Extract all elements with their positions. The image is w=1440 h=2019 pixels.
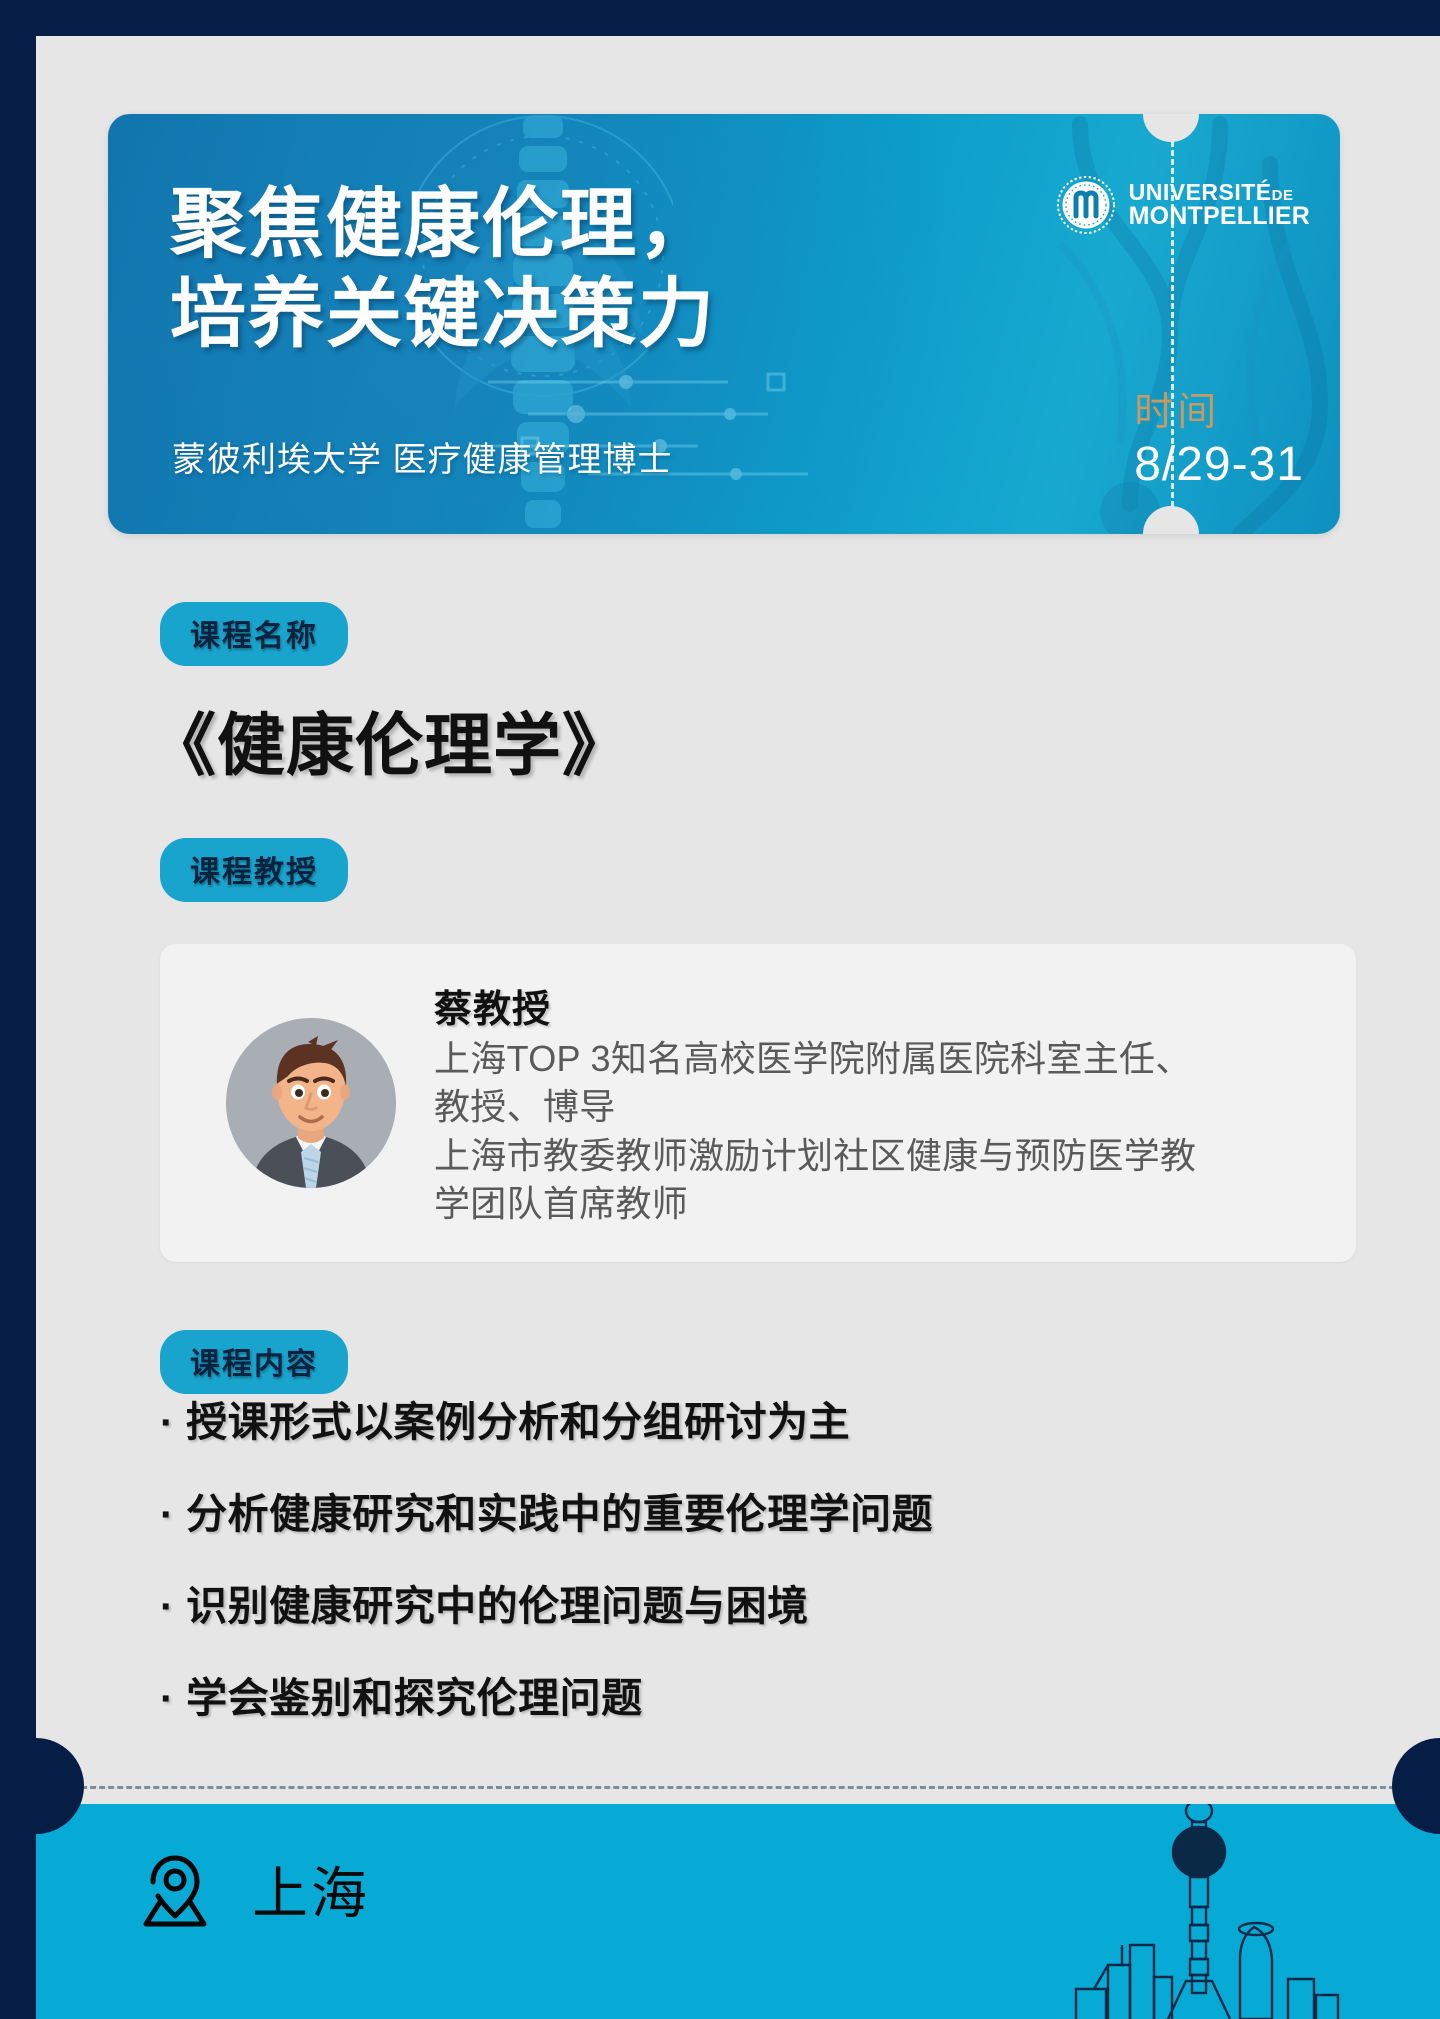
avatar-illustration (226, 1018, 396, 1188)
location-name: 上海 (252, 1849, 370, 1930)
professor-info: 蔡教授 上海TOP 3知名高校医学院附属医院科室主任、 教授、博导 上海市教委教… (434, 978, 1356, 1228)
date-value: 8/29-31 (1134, 437, 1304, 492)
course-content-list: · 授课形式以案例分析和分组研讨为主 · 分析健康研究和实践中的重要伦理学问题 … (160, 1388, 1340, 1756)
list-item-label: 识别健康研究中的伦理问题与困境 (186, 1572, 809, 1632)
shanghai-skyline-icon (1016, 1804, 1376, 2019)
bullet-icon: · (160, 1678, 174, 1719)
section-label-professor: 课程教授 (160, 838, 348, 902)
section-label-course-content: 课程内容 (160, 1330, 348, 1394)
university-logo: UNIVERSITÉDE MONTPELLIER (1057, 176, 1310, 234)
date-label: 时间 (1134, 392, 1304, 435)
location-pin-icon (132, 1846, 218, 1932)
professor-bio: 上海TOP 3知名高校医学院附属医院科室主任、 教授、博导 上海市教委教师激励计… (434, 1035, 1356, 1228)
bullet-icon: · (160, 1494, 174, 1535)
course-title: 《健康伦理学》 (148, 690, 631, 789)
list-item: · 授课形式以案例分析和分组研讨为主 (160, 1388, 1340, 1448)
banner-subtitle: 蒙彼利埃大学 医疗健康管理博士 (172, 432, 672, 481)
list-item-label: 学会鉴别和探究伦理问题 (186, 1664, 643, 1724)
list-item: · 学会鉴别和探究伦理问题 (160, 1664, 1340, 1724)
university-logo-text: UNIVERSITÉDE MONTPELLIER (1129, 181, 1310, 230)
bullet-icon: · (160, 1586, 174, 1627)
bullet-icon: · (160, 1402, 174, 1443)
banner-background: 聚焦健康伦理， 培养关键决策力 蒙彼利埃大学 医疗健康管理博士 UNIVERSI… (108, 114, 1340, 534)
university-logo-line1: UNIVERSITÉDE (1129, 181, 1310, 204)
professor-name: 蔡教授 (434, 978, 1356, 1033)
professor-card: 蔡教授 上海TOP 3知名高校医学院附属医院科室主任、 教授、博导 上海市教委教… (160, 944, 1356, 1262)
poster-root: 聚焦健康伦理， 培养关键决策力 蒙彼利埃大学 医疗健康管理博士 UNIVERSI… (0, 0, 1440, 2019)
event-date-block: 时间 8/29-31 (1134, 392, 1304, 492)
footer-band: 上海 (36, 1804, 1440, 2019)
professor-avatar (226, 1018, 396, 1188)
university-logo-line2: MONTPELLIER (1129, 204, 1310, 230)
list-item-label: 分析健康研究和实践中的重要伦理学问题 (186, 1480, 933, 1540)
band-perforation-line (36, 1786, 1440, 1789)
location-row: 上海 (132, 1846, 370, 1932)
list-item-label: 授课形式以案例分析和分组研讨为主 (186, 1388, 850, 1448)
hero-ticket-banner: 聚焦健康伦理， 培养关键决策力 蒙彼利埃大学 医疗健康管理博士 UNIVERSI… (108, 114, 1340, 534)
banner-headline: 聚焦健康伦理， 培养关键决策力 (170, 180, 716, 359)
poster-sheet: 聚焦健康伦理， 培养关键决策力 蒙彼利埃大学 医疗健康管理博士 UNIVERSI… (36, 36, 1440, 2019)
university-seal-icon (1057, 176, 1115, 234)
list-item: · 识别健康研究中的伦理问题与困境 (160, 1572, 1340, 1632)
list-item: · 分析健康研究和实践中的重要伦理学问题 (160, 1480, 1340, 1540)
section-label-course-name: 课程名称 (160, 602, 348, 666)
